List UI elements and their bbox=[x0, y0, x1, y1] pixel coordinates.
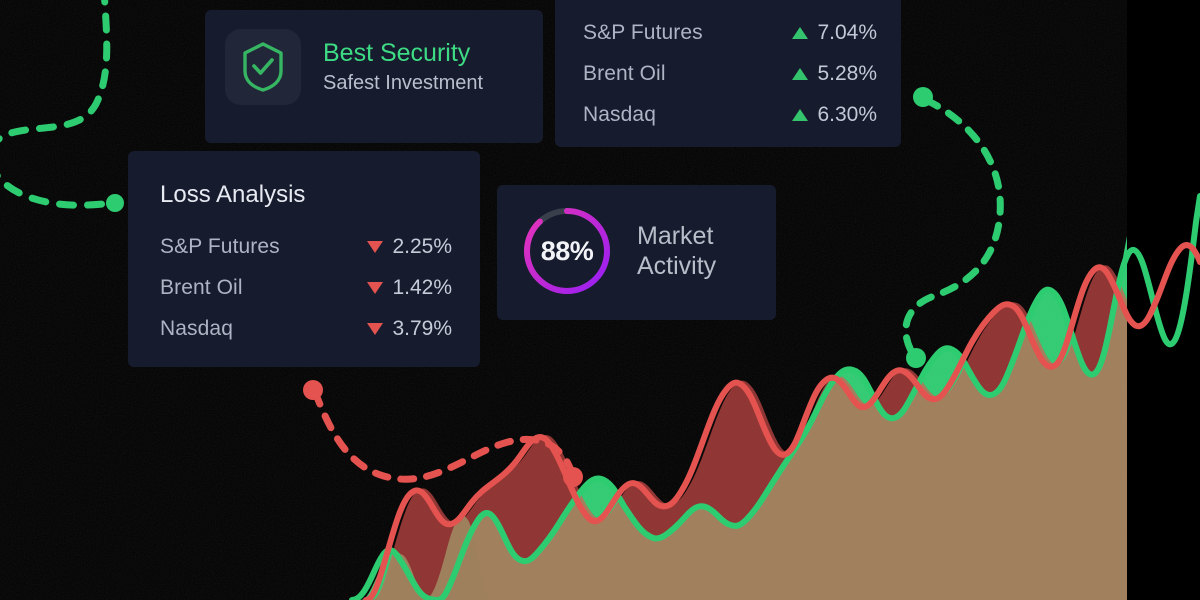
shield-check-icon bbox=[225, 29, 301, 105]
quote-row[interactable]: S&P Futures 2.25% bbox=[160, 226, 452, 267]
quote-change: 3.79% bbox=[367, 317, 452, 341]
gainers-quote-list: S&P Futures 7.04% Brent Oil 5.28% Nasdaq… bbox=[583, 12, 877, 135]
quote-label: Nasdaq bbox=[160, 317, 233, 341]
security-subtitle: Safest Investment bbox=[323, 73, 483, 94]
quote-value: 1.42% bbox=[392, 276, 452, 300]
quote-value: 3.79% bbox=[392, 317, 452, 341]
market-activity-gauge: 88% bbox=[519, 203, 615, 299]
quote-row[interactable]: Nasdaq 6.30% bbox=[583, 94, 877, 135]
quote-label: Nasdaq bbox=[583, 103, 656, 127]
security-title: Best Security bbox=[323, 40, 483, 66]
security-card-content: Best Security Safest Investment bbox=[225, 29, 483, 105]
triangle-down-icon bbox=[367, 282, 383, 294]
quote-value: 7.04% bbox=[817, 21, 877, 45]
security-card-text: Best Security Safest Investment bbox=[323, 40, 483, 93]
market-activity-label-line2: Activity bbox=[637, 251, 716, 282]
quote-row[interactable]: Brent Oil 5.28% bbox=[583, 53, 877, 94]
quote-label: Brent Oil bbox=[160, 276, 243, 300]
market-activity-label-line1: Market bbox=[637, 221, 716, 252]
quote-change: 1.42% bbox=[367, 276, 452, 300]
dashboard-stage: S&P Futures 7.04% Brent Oil 5.28% Nasdaq… bbox=[0, 0, 1200, 600]
quote-label: S&P Futures bbox=[160, 235, 280, 259]
triangle-down-icon bbox=[367, 323, 383, 335]
triangle-up-icon bbox=[792, 68, 808, 80]
market-activity-content: 88% Market Activity bbox=[519, 203, 716, 299]
loss-analysis-title: Loss Analysis bbox=[160, 181, 305, 209]
quote-row[interactable]: Brent Oil 1.42% bbox=[160, 267, 452, 308]
gauge-value-label: 88% bbox=[519, 203, 615, 299]
gainers-quotes-card: S&P Futures 7.04% Brent Oil 5.28% Nasdaq… bbox=[555, 0, 901, 147]
quote-change: 6.30% bbox=[792, 103, 877, 127]
loss-quote-list: S&P Futures 2.25% Brent Oil 1.42% Nasdaq… bbox=[160, 226, 452, 349]
quote-value: 5.28% bbox=[817, 62, 877, 86]
quote-value: 6.30% bbox=[817, 103, 877, 127]
best-security-card: Best Security Safest Investment bbox=[205, 10, 543, 143]
quote-row[interactable]: S&P Futures 7.04% bbox=[583, 12, 877, 53]
triangle-down-icon bbox=[367, 241, 383, 253]
triangle-up-icon bbox=[792, 109, 808, 121]
quote-row[interactable]: Nasdaq 3.79% bbox=[160, 308, 452, 349]
quote-change: 7.04% bbox=[792, 21, 877, 45]
quote-label: Brent Oil bbox=[583, 62, 666, 86]
quote-value: 2.25% bbox=[392, 235, 452, 259]
market-activity-card: 88% Market Activity bbox=[497, 185, 776, 320]
loss-analysis-card: Loss Analysis S&P Futures 2.25% Brent Oi… bbox=[128, 151, 480, 367]
quote-label: S&P Futures bbox=[583, 21, 703, 45]
triangle-up-icon bbox=[792, 27, 808, 39]
market-activity-label: Market Activity bbox=[637, 221, 716, 282]
quote-change: 2.25% bbox=[367, 235, 452, 259]
quote-change: 5.28% bbox=[792, 62, 877, 86]
